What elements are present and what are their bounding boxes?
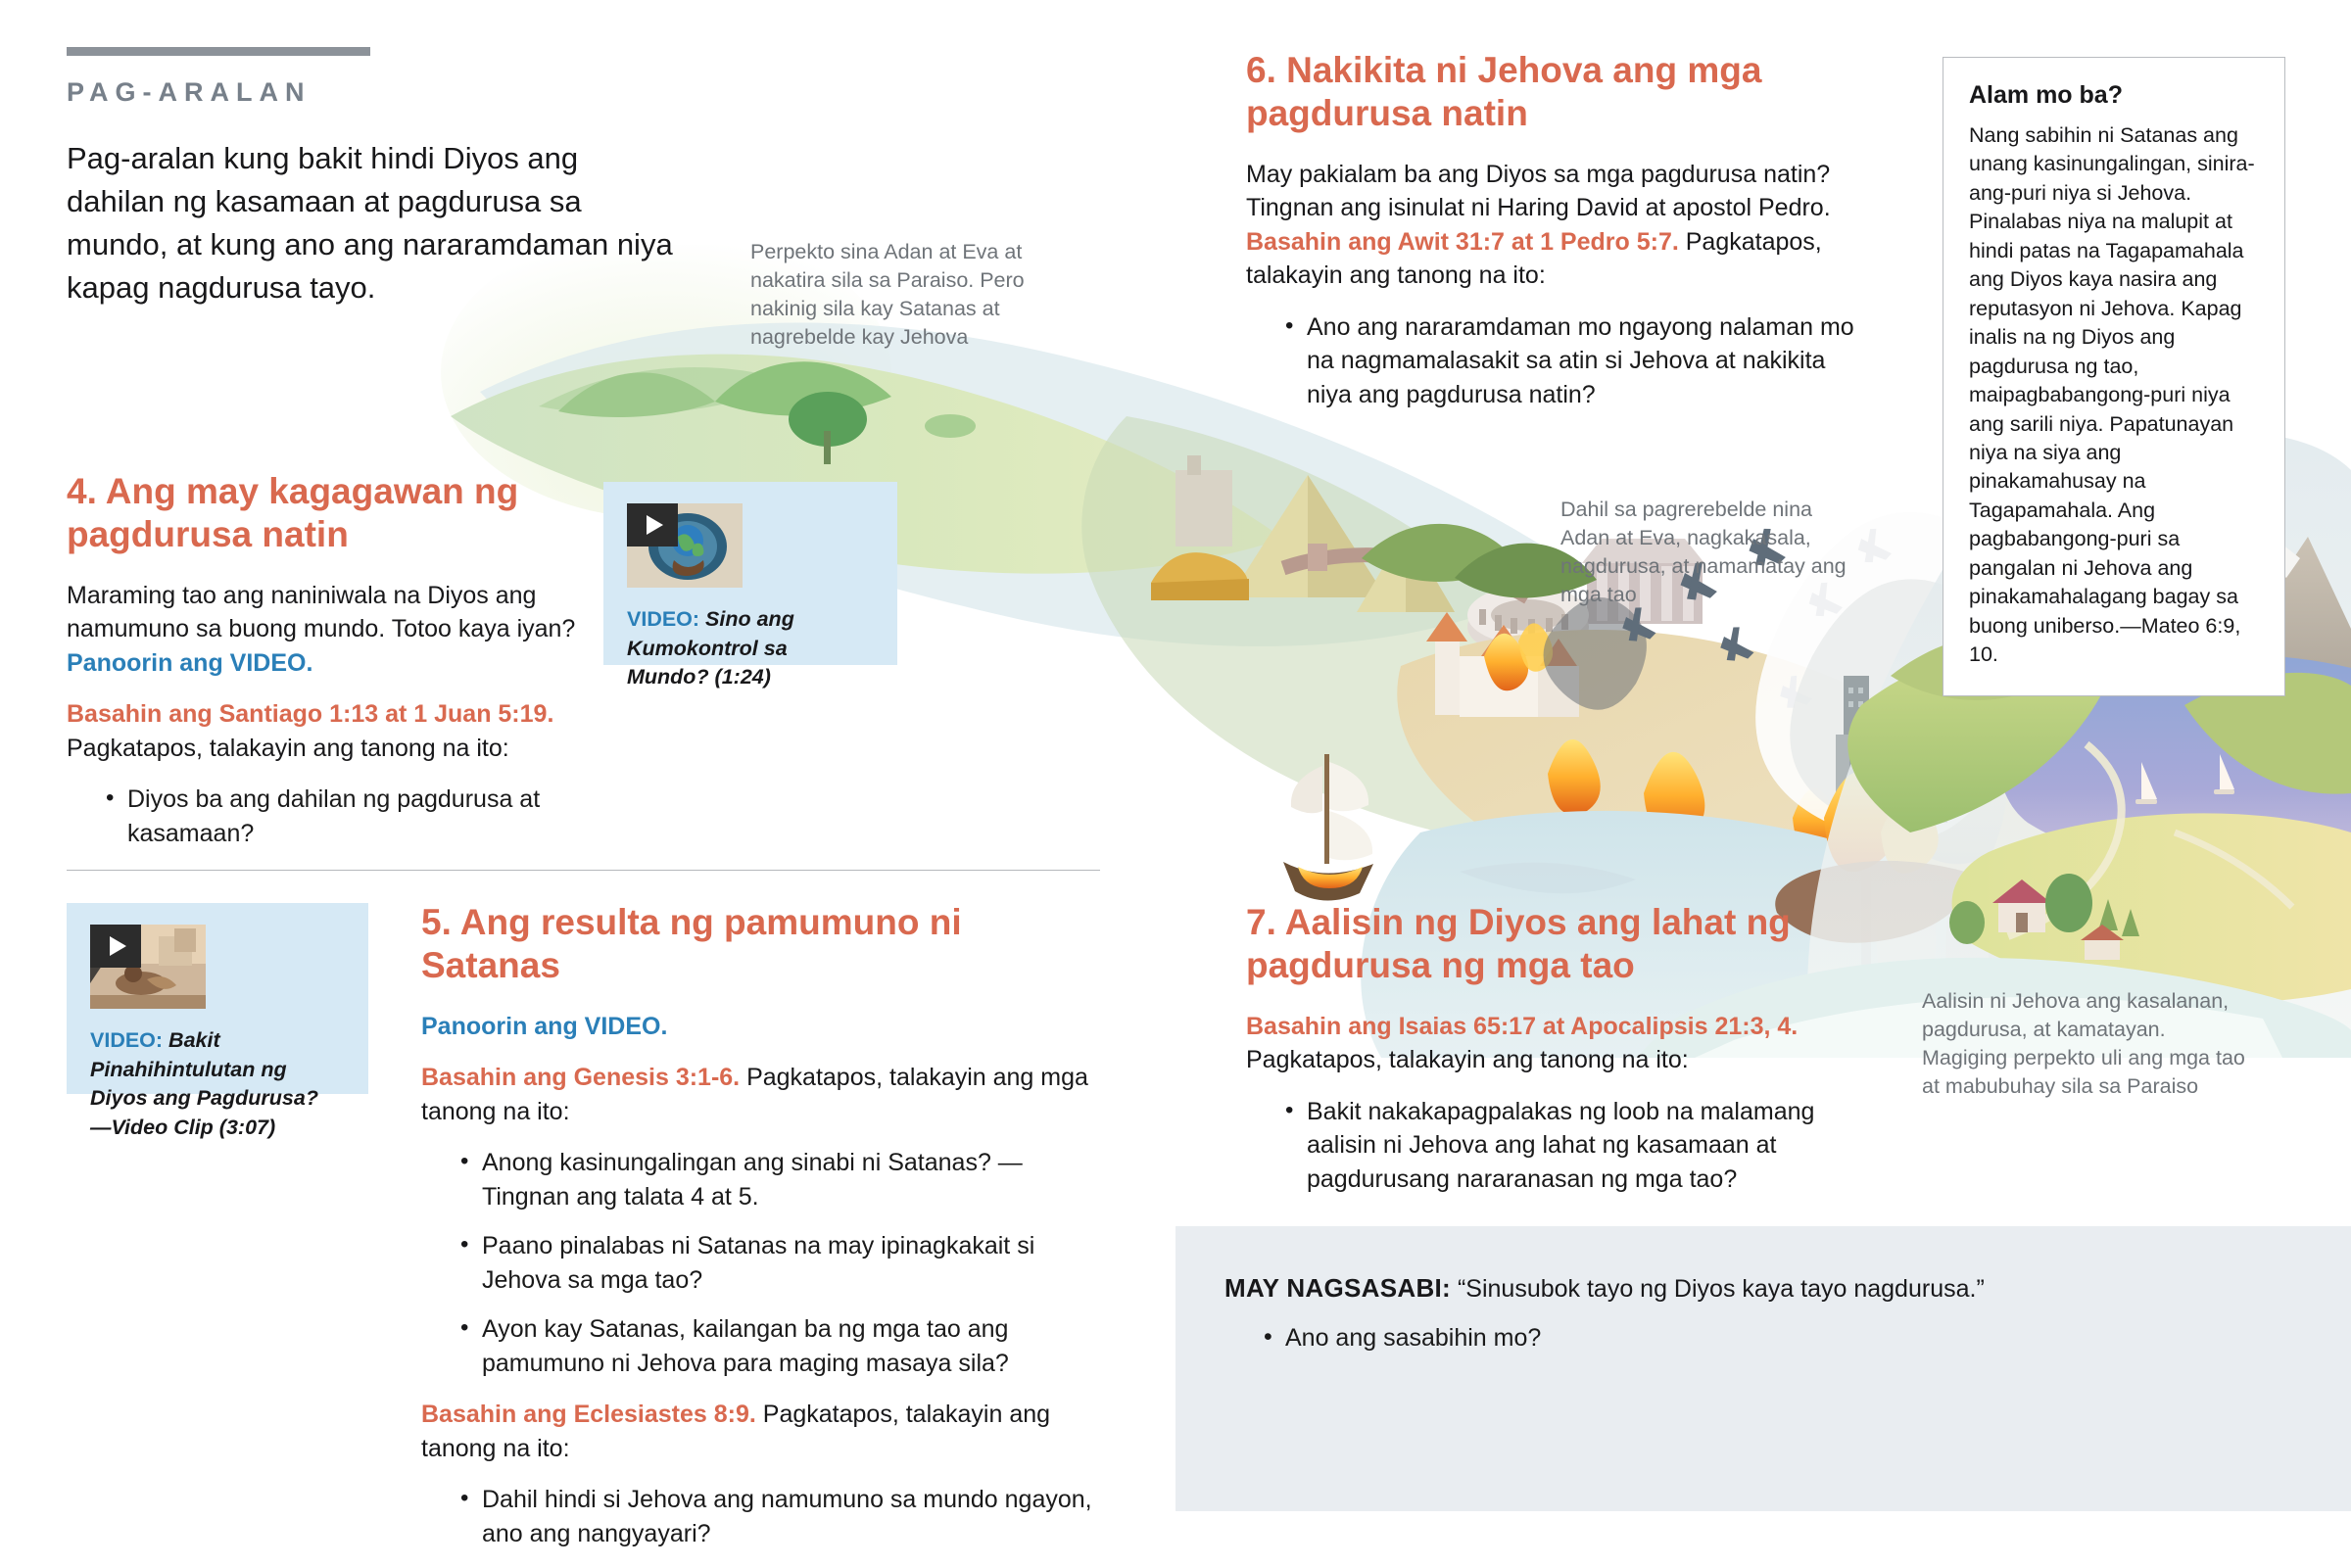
page-eyebrow: PAG-ARALAN — [67, 77, 674, 108]
eyebrow-rule — [67, 47, 370, 56]
list-item: Ano ang nararamdaman mo ngayong nalaman … — [1285, 310, 1873, 412]
video-label: VIDEO: — [90, 1028, 163, 1052]
says-label: MAY NAGSASABI: — [1224, 1273, 1451, 1303]
video-caption: VIDEO: Sino ang Kumokontrol sa Mundo? (1… — [627, 605, 874, 692]
section-6-question-list: Ano ang nararamdaman mo ngayong nalaman … — [1246, 310, 1873, 412]
section-6-paragraph: May pakialam ba ang Diyos sa mga pagduru… — [1246, 158, 1873, 293]
says-quote: “Sinusubok tayo ng Diyos kaya tayo nagdu… — [1451, 1275, 1985, 1303]
video-card-sino-ang-kumokontrol[interactable]: VIDEO: Sino ang Kumokontrol sa Mundo? (1… — [603, 482, 897, 665]
section-5-video-line: Panoorin ang VIDEO. — [421, 1010, 1097, 1044]
section-5: 5. Ang resulta ng pamumuno ni Satanas Pa… — [421, 901, 1097, 1568]
play-icon[interactable] — [627, 503, 678, 546]
did-you-know-body: Nang sabihin ni Satanas ang unang kasinu… — [1969, 121, 2259, 670]
section-4-heading: 4. Ang may kagagawan ng pagdurusa natin — [67, 470, 615, 557]
list-item: Bakit nakakapagpalakas ng loob na malama… — [1285, 1095, 1853, 1197]
list-item: Paano pinalabas ni Satanas na may ipinag… — [460, 1229, 1097, 1297]
section-divider — [67, 870, 1100, 871]
section-4-paragraph: Maraming tao ang naniniwala na Diyos ang… — [67, 579, 615, 681]
video-thumbnail[interactable] — [90, 925, 206, 1009]
section-7-after-scripture: Pagkatapos, talakayin ang tanong na ito: — [1246, 1046, 1689, 1073]
page-root: PAG-ARALAN Pag-aralan kung bakit hindi D… — [0, 0, 2351, 1511]
section-5-scripture-line-1: Basahin ang Genesis 3:1-6. Pagkatapos, t… — [421, 1061, 1097, 1128]
section-4-para-text: Maraming tao ang naniniwala na Diyos ang… — [67, 582, 575, 643]
list-item: Ayon kay Satanas, kailangan ba ng mga ta… — [460, 1312, 1097, 1380]
did-you-know-box: Alam mo ba? Nang sabihin ni Satanas ang … — [1943, 57, 2285, 696]
caption-paradise-top: Perpekto sina Adan at Eva at nakatira si… — [750, 238, 1093, 352]
may-nagsasabi-box: MAY NAGSASABI: “Sinusubok tayo ng Diyos … — [1175, 1226, 2351, 1511]
video-card-bakit-pinahihintulutan[interactable]: VIDEO: Bakit Pinahihintulutan ng Diyos a… — [67, 903, 368, 1094]
section-4-question-list: Diyos ba ang dahilan ng pagdurusa at kas… — [67, 783, 615, 850]
section-5-scripture-1[interactable]: Basahin ang Genesis 3:1-6. — [421, 1064, 740, 1091]
section-7-scripture[interactable]: Basahin ang Isaias 65:17 at Apocalipsis … — [1246, 1013, 1798, 1040]
section-6-scripture[interactable]: Basahin ang Awit 31:7 at 1 Pedro 5:7. — [1246, 228, 1679, 256]
says-question-list: Ano ang sasabihin mo? — [1224, 1324, 2302, 1353]
section-5-scripture-2[interactable]: Basahin ang Eclesiastes 8:9. — [421, 1401, 756, 1428]
section-5-question-list-2: Dahil hindi si Jehova ang namumuno sa mu… — [421, 1483, 1097, 1550]
section-4-scripture-line: Basahin ang Santiago 1:13 at 1 Juan 5:19… — [67, 697, 615, 765]
section-7-question-list: Bakit nakakapagpalakas ng loob na malama… — [1246, 1095, 1853, 1197]
section-7-scripture-line: Basahin ang Isaias 65:17 at Apocalipsis … — [1246, 1010, 1853, 1077]
eyebrow-block: PAG-ARALAN Pag-aralan kung bakit hindi D… — [67, 47, 674, 309]
section-5-heading: 5. Ang resulta ng pamumuno ni Satanas — [421, 901, 1097, 988]
says-line: MAY NAGSASABI: “Sinusubok tayo ng Diyos … — [1224, 1270, 2302, 1307]
play-icon[interactable] — [90, 925, 141, 968]
list-item: Dahil hindi si Jehova ang namumuno sa mu… — [460, 1483, 1097, 1550]
caption-restored: Aalisin ni Jehova ang kasalanan, pagduru… — [1922, 987, 2255, 1101]
section-5-video-link[interactable]: Panoorin ang VIDEO. — [421, 1013, 667, 1040]
caption-suffering: Dahil sa pagrerebelde nina Adan at Eva, … — [1560, 496, 1864, 609]
page-intro: Pag-aralan kung bakit hindi Diyos ang da… — [67, 137, 674, 309]
section-6-heading: 6. Nakikita ni Jehova ang mga pagdurusa … — [1246, 49, 1873, 136]
list-item: Ano ang sasabihin mo? — [1264, 1324, 2302, 1353]
section-7-heading: 7. Aalisin ng Diyos ang lahat ng pagduru… — [1246, 901, 1853, 988]
did-you-know-heading: Alam mo ba? — [1969, 81, 2259, 110]
video-thumbnail[interactable] — [627, 503, 743, 588]
section-6-para-text: May pakialam ba ang Diyos sa mga pagduru… — [1246, 161, 1831, 222]
section-5-scripture-line-2: Basahin ang Eclesiastes 8:9. Pagkatapos,… — [421, 1398, 1097, 1465]
list-item: Diyos ba ang dahilan ng pagdurusa at kas… — [106, 783, 615, 850]
section-6: 6. Nakikita ni Jehova ang mga pagdurusa … — [1246, 49, 1873, 429]
video-caption: VIDEO: Bakit Pinahihintulutan ng Diyos a… — [90, 1026, 345, 1143]
list-item: Anong kasinungalingan ang sinabi ni Sata… — [460, 1146, 1097, 1213]
section-4-video-link[interactable]: Panoorin ang VIDEO. — [67, 649, 312, 677]
section-4: 4. Ang may kagagawan ng pagdurusa natin … — [67, 470, 615, 868]
section-7: 7. Aalisin ng Diyos ang lahat ng pagduru… — [1246, 901, 1853, 1213]
video-label: VIDEO: — [627, 607, 699, 631]
section-4-after-scripture: Pagkatapos, talakayin ang tanong na ito: — [67, 735, 509, 762]
section-5-question-list-1: Anong kasinungalingan ang sinabi ni Sata… — [421, 1146, 1097, 1380]
section-4-scripture[interactable]: Basahin ang Santiago 1:13 at 1 Juan 5:19… — [67, 700, 553, 728]
